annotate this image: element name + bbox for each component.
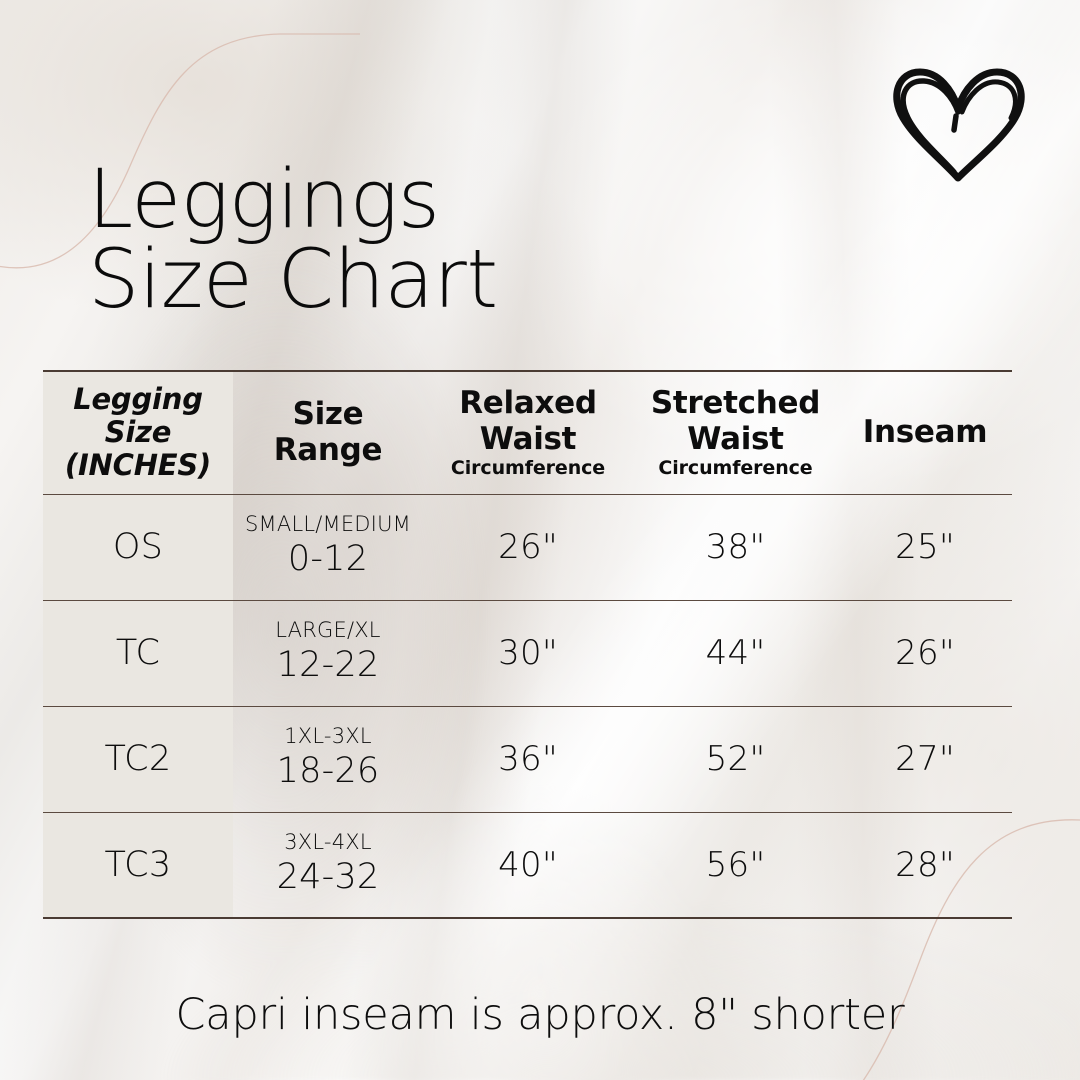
- cell-stretched-waist-value: 52": [706, 739, 766, 779]
- column-header-inseam-label: Inseam: [863, 414, 988, 450]
- table-body: OS SMALL/MEDIUM 0-12 26" 38" 25" TC LARG…: [43, 494, 1012, 918]
- column-header-stretched-waist: Stretched Waist Circumference: [633, 371, 838, 494]
- column-header-size-range: Size Range: [233, 371, 423, 494]
- cell-relaxed-waist: 40": [423, 812, 633, 918]
- table-row: TC2 1XL-3XL 18-26 36" 52" 27": [43, 706, 1012, 812]
- cell-size-range: LARGE/XL 12-22: [233, 600, 423, 706]
- cell-inseam: 28": [838, 812, 1012, 918]
- column-header-legging-size: Legging Size (INCHES): [43, 371, 233, 494]
- cell-relaxed-waist-value: 36": [498, 739, 558, 779]
- cell-inseam-value: 27": [895, 739, 955, 779]
- cell-size-range-label: 3XL-4XL: [237, 830, 419, 855]
- cell-size-range-label: SMALL/MEDIUM: [237, 512, 419, 537]
- cell-relaxed-waist: 36": [423, 706, 633, 812]
- size-table-wrapper: Legging Size (INCHES) Size Range Relaxed…: [43, 370, 1012, 919]
- size-chart-table: Legging Size (INCHES) Size Range Relaxed…: [43, 370, 1012, 919]
- cell-stretched-waist: 44": [633, 600, 838, 706]
- cell-stretched-waist: 52": [633, 706, 838, 812]
- table-row: TC LARGE/XL 12-22 30" 44" 26": [43, 600, 1012, 706]
- cell-inseam: 27": [838, 706, 1012, 812]
- footer-note: Capri inseam is approx. 8" shorter: [0, 990, 1080, 1040]
- heart-doodle-icon: [884, 60, 1034, 190]
- column-header-size-range-line2: Range: [274, 432, 383, 468]
- title-line-1: Leggings: [88, 160, 808, 240]
- cell-stretched-waist: 38": [633, 494, 838, 600]
- column-header-relaxed-waist-line2: Waist: [480, 421, 576, 457]
- column-header-relaxed-waist-line1: Relaxed: [459, 385, 597, 421]
- size-chart-page: Leggings Size Chart Legging Size (INCHES…: [0, 0, 1080, 1080]
- cell-stretched-waist: 56": [633, 812, 838, 918]
- cell-stretched-waist-value: 56": [706, 845, 766, 885]
- cell-inseam-value: 28": [895, 845, 955, 885]
- cell-inseam-value: 26": [895, 633, 955, 673]
- cell-size: TC3: [43, 812, 233, 918]
- cell-stretched-waist-value: 44": [706, 633, 766, 673]
- cell-size-label: OS: [113, 527, 163, 567]
- cell-size-range-value: 12-22: [237, 644, 419, 688]
- cell-size-range-value: 24-32: [237, 856, 419, 900]
- column-header-size-range-line1: Size: [293, 396, 364, 432]
- cell-size-range: SMALL/MEDIUM 0-12: [233, 494, 423, 600]
- cell-inseam-value: 25": [895, 527, 955, 567]
- cell-size-range-label: LARGE/XL: [237, 618, 419, 643]
- table-header: Legging Size (INCHES) Size Range Relaxed…: [43, 371, 1012, 494]
- table-header-row: Legging Size (INCHES) Size Range Relaxed…: [43, 371, 1012, 494]
- cell-relaxed-waist: 26": [423, 494, 633, 600]
- column-header-relaxed-waist-sublabel: Circumference: [427, 458, 629, 479]
- column-header-stretched-waist-line1: Stretched: [651, 385, 820, 421]
- cell-size-range-value: 18-26: [237, 750, 419, 794]
- page-title: Leggings Size Chart: [88, 160, 808, 320]
- cell-size-label: TC: [116, 633, 160, 673]
- cell-size: TC: [43, 600, 233, 706]
- cell-size: TC2: [43, 706, 233, 812]
- table-row: TC3 3XL-4XL 24-32 40" 56" 28": [43, 812, 1012, 918]
- cell-size-range-value: 0-12: [237, 538, 419, 582]
- title-line-2: Size Chart: [88, 240, 808, 320]
- column-header-stretched-waist-sublabel: Circumference: [637, 458, 834, 479]
- column-header-relaxed-waist: Relaxed Waist Circumference: [423, 371, 633, 494]
- cell-relaxed-waist-value: 26": [498, 527, 558, 567]
- cell-size: OS: [43, 494, 233, 600]
- column-header-inseam: Inseam: [838, 371, 1012, 494]
- cell-relaxed-waist: 30": [423, 600, 633, 706]
- table-row: OS SMALL/MEDIUM 0-12 26" 38" 25": [43, 494, 1012, 600]
- column-header-legging-size-units: (INCHES): [65, 448, 211, 482]
- cell-inseam: 26": [838, 600, 1012, 706]
- cell-size-label: TC3: [105, 845, 172, 885]
- cell-relaxed-waist-value: 30": [498, 633, 558, 673]
- column-header-stretched-waist-line2: Waist: [687, 421, 783, 457]
- cell-size-range-label: 1XL-3XL: [237, 724, 419, 749]
- cell-stretched-waist-value: 38": [706, 527, 766, 567]
- cell-size-range: 3XL-4XL 24-32: [233, 812, 423, 918]
- column-header-legging-size-label: Legging Size: [73, 382, 203, 449]
- cell-size-label: TC2: [105, 739, 172, 779]
- cell-size-range: 1XL-3XL 18-26: [233, 706, 423, 812]
- cell-inseam: 25": [838, 494, 1012, 600]
- cell-relaxed-waist-value: 40": [498, 845, 558, 885]
